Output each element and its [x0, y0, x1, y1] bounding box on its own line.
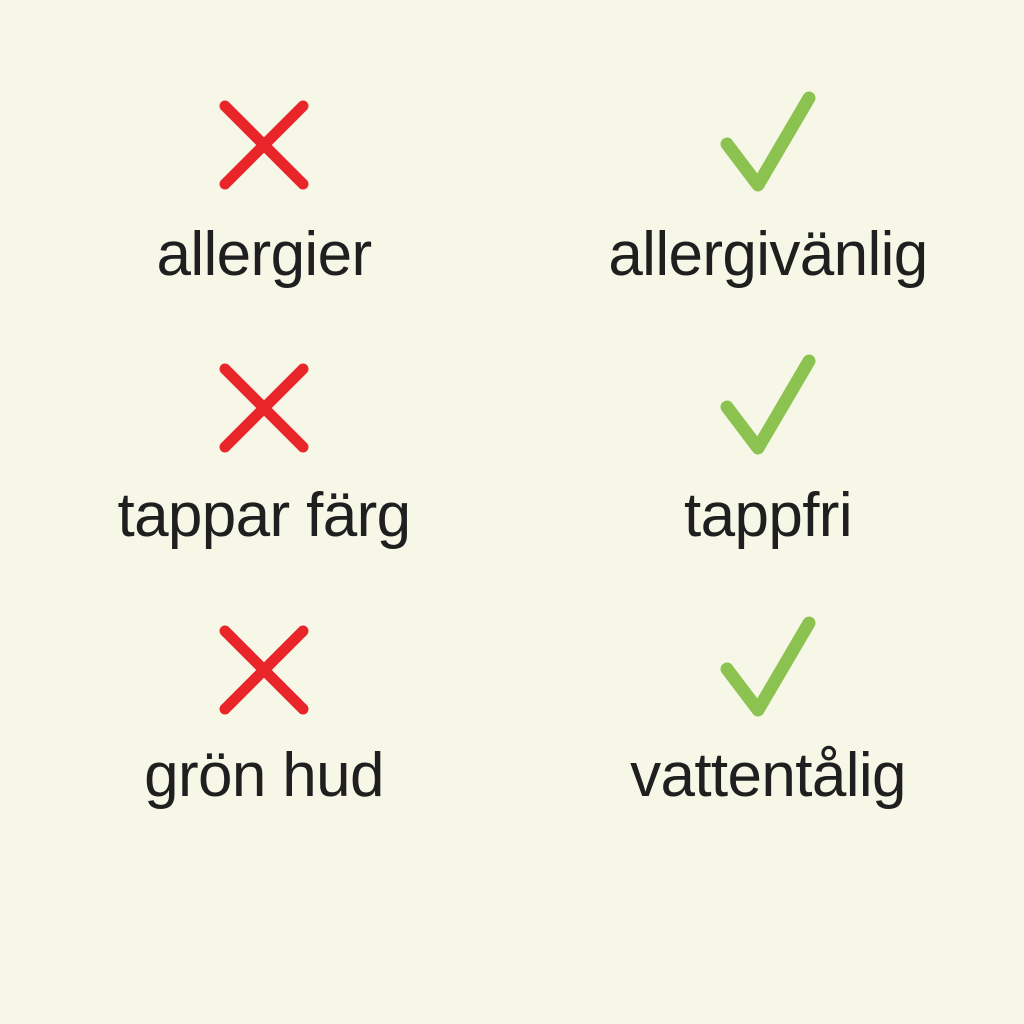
comparison-graphic: allergier allergivänlig tappar färg: [0, 0, 1024, 1024]
comparison-item-negative: allergier: [0, 86, 512, 343]
comparison-item-positive: tappfri: [512, 343, 1024, 600]
cross-icon: [209, 349, 319, 467]
comparison-label-negative: grön hud: [144, 743, 384, 809]
comparison-label-positive: vattentålig: [630, 743, 906, 809]
comparison-label-negative: allergier: [157, 222, 372, 288]
comparison-item-positive: vattentålig: [512, 601, 1024, 858]
comparison-item-negative: grön hud: [0, 601, 512, 858]
cross-icon: [209, 611, 319, 729]
check-icon: [713, 349, 823, 467]
cross-icon: [209, 86, 319, 204]
comparison-label-negative: tappar färg: [117, 483, 410, 549]
check-icon: [713, 611, 823, 729]
comparison-item-positive: allergivänlig: [512, 86, 1024, 343]
comparison-label-positive: allergivänlig: [608, 222, 927, 288]
comparison-label-positive: tappfri: [684, 483, 852, 549]
check-icon: [713, 86, 823, 204]
comparison-item-negative: tappar färg: [0, 343, 512, 600]
comparison-grid: allergier allergivänlig tappar färg: [0, 0, 1024, 872]
